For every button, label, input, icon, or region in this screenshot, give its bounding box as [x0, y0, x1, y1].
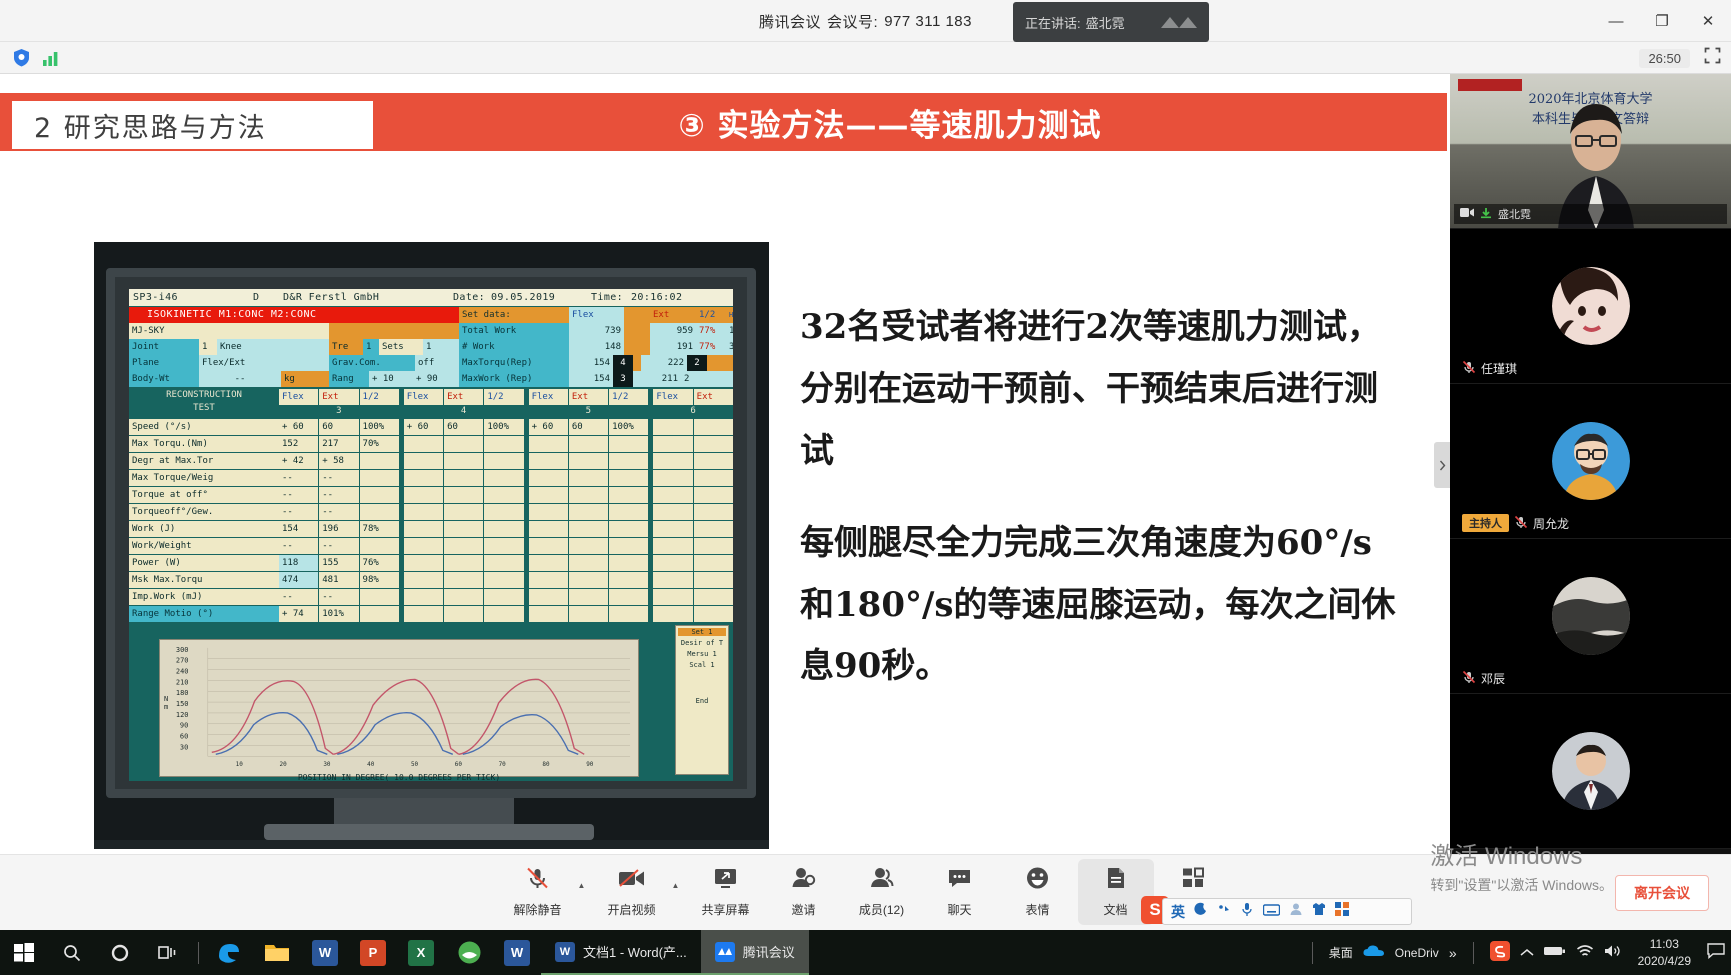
param-row: Range Motio (°) + 74 101% [129, 606, 733, 622]
svg-text:150: 150 [176, 700, 189, 708]
param-0-label: Speed (°/s) [129, 419, 279, 435]
field-0-label: Joint [129, 339, 199, 355]
participant-tile[interactable]: 邓辰 [1450, 539, 1731, 694]
param-8-b: 155 [319, 555, 358, 571]
active-speaker-chip: 正在讲话: 盛北霓 [1013, 2, 1209, 42]
window-controls: — ❐ ✕ [1593, 0, 1731, 42]
status-bar-right: 26:50 [1639, 42, 1721, 74]
setrow-0-hi: 1698 [726, 323, 733, 339]
ctrl-0-label2: Sets [379, 339, 423, 355]
participant-name-row: 任瑾琪 [1456, 358, 1523, 378]
sogou-icon[interactable] [1490, 941, 1510, 964]
param-0-b3: 60 [569, 419, 608, 435]
param-row: Max Torque/Weig -- -- [129, 470, 733, 486]
param-row: Work (J) 154 196 78% [129, 521, 733, 537]
camera-icon[interactable] [1460, 207, 1474, 221]
setrow-3-rep2: 2 [681, 371, 733, 387]
time-label: Time: [591, 289, 631, 306]
rep-hdr-flex-3: Flex [279, 389, 318, 405]
ctrl-0-label: Tre [329, 339, 363, 355]
setrow-0-ext: 959 [650, 323, 696, 339]
taskbar-window-word-label: 文档1 - Word(产... [583, 942, 687, 961]
param-row: Power (W) 118 155 76% [129, 555, 733, 571]
download-icon[interactable] [1480, 207, 1492, 222]
participants-label: 成员(12) [859, 901, 904, 918]
rep-hdr-ext-4: Ext [444, 389, 483, 405]
battery-icon[interactable] [1544, 945, 1566, 960]
pinyin-icon[interactable] [1217, 902, 1231, 921]
graph-axis-label: POSITION IN DEGREE( 10.0 DEGREES PER TIC… [189, 773, 609, 781]
skin-icon[interactable] [1312, 902, 1326, 921]
avatar [1552, 577, 1630, 655]
param-9-label: Msk Max.Torqu [129, 572, 279, 588]
windows-taskbar: W P X W W 文档1 - Word(产... 腾讯会议 [0, 930, 1731, 975]
participant-name: 周允龙 [1533, 515, 1569, 532]
col-flex: Flex [569, 307, 624, 323]
param-8-a: 118 [279, 555, 318, 571]
rep-hdr-ext-6: Ext [694, 389, 733, 405]
test-title: RECONSTRUCTION TEST [129, 389, 279, 417]
tray-separator-2 [1473, 942, 1474, 964]
close-button[interactable]: ✕ [1685, 0, 1731, 42]
test-title-line1: RECONSTRUCTION [166, 390, 242, 400]
excel-icon[interactable]: X [397, 930, 445, 975]
document-icon [1103, 866, 1128, 896]
param-7-b: -- [319, 538, 358, 554]
taskbar-window-meeting[interactable]: 腾讯会议 [701, 930, 809, 975]
rep-hdr-flex-6: Flex [653, 389, 692, 405]
ie-icon[interactable] [445, 930, 493, 975]
slide-body-text: 32名受试者将进行2次等速肌力测试，分别在运动干预前、干预结束后进行测试 每侧腿… [800, 297, 1400, 698]
tray-desktop-label[interactable]: 桌面 [1329, 944, 1353, 961]
side-panel-4: End [678, 697, 726, 705]
invite-icon [791, 866, 816, 896]
parameter-table: Speed (°/s) + 60 60 100% + 60 60 100% + … [129, 419, 733, 622]
param-10-a: -- [279, 589, 318, 605]
camera-off-icon [618, 866, 645, 896]
presentation-slide: 2 研究思路与方法 ③ 实验方法——等速肌力测试 SP3-i46 D D&R F… [0, 79, 1447, 849]
ctrl-0-value2: 1 [423, 339, 459, 355]
param-2-label: Degr at Max.Tor [129, 453, 279, 469]
setrow-1-hi: 340 [726, 339, 733, 355]
field-1-v1: Flex/Ext [199, 355, 329, 371]
ime-language-indicator[interactable]: 英 [1171, 902, 1185, 922]
param-0-c2: 100% [484, 419, 523, 435]
param-3-b: -- [319, 470, 358, 486]
field-2-v1: -- [199, 371, 281, 387]
param-0-a3: + 60 [529, 419, 568, 435]
col-ext: Ext [650, 307, 696, 323]
minimize-button[interactable]: — [1593, 0, 1639, 42]
svg-text:240: 240 [176, 668, 189, 676]
svg-text:70: 70 [499, 761, 507, 768]
moon-icon[interactable] [1194, 902, 1208, 921]
task-view-icon[interactable] [144, 930, 192, 975]
volume-icon[interactable] [1604, 944, 1622, 961]
param-6-label: Work (J) [129, 521, 279, 537]
time-value: 20:16:02 [631, 289, 729, 306]
svg-text:90: 90 [586, 761, 594, 768]
svg-text:10: 10 [236, 761, 244, 768]
powerpoint-icon[interactable]: P [349, 930, 397, 975]
param-6-a: 154 [279, 521, 318, 537]
setrow-2-flex: 154 [569, 355, 613, 371]
file-explorer-icon[interactable] [253, 930, 301, 975]
participants-icon [869, 866, 894, 896]
param-0-a: + 60 [279, 419, 318, 435]
speaker-tile-name: 盛北霓 [1498, 206, 1531, 222]
col-ratio: 1/2 [696, 307, 726, 323]
taskbar-window-word[interactable]: W 文档1 - Word(产... [541, 930, 701, 975]
param-8-label: Power (W) [129, 555, 279, 571]
mic-muted-icon [525, 866, 550, 896]
rep-hdr-flex-4: Flex [404, 389, 443, 405]
side-panel-0: Set 1 [678, 628, 726, 636]
rep-number-3: 3 [279, 405, 399, 418]
slide-paragraph-1: 32名受试者将进行2次等速肌力测试，分别在运动干预前、干预结束后进行测试 [800, 297, 1400, 483]
word-icon: W [555, 942, 575, 962]
svg-text:40: 40 [367, 761, 375, 768]
ctrl-2-value: + 10 [369, 371, 413, 387]
tray-more-label[interactable]: » [1449, 945, 1457, 961]
rep-hdr-flex-5: Flex [529, 389, 568, 405]
crt-monitor: SP3-i46 D D&R Ferstl GmbH Date: 09.05.20… [106, 268, 756, 798]
action-center-icon[interactable] [1707, 943, 1725, 962]
setrow-3-flex: 154 [569, 371, 613, 387]
slide-title: ③ 实验方法——等速肌力测试 [380, 93, 1400, 151]
rep-number-4: 4 [404, 405, 524, 418]
svg-text:m: m [164, 703, 168, 711]
fullscreen-icon[interactable] [1704, 47, 1721, 69]
rep-hdr-ratio-3: 1/2 [360, 389, 399, 405]
side-panel-2: Mersu 1 [678, 650, 726, 658]
invite-button[interactable]: 邀请 [766, 859, 842, 925]
edge-icon[interactable] [205, 930, 253, 975]
setrow-2-ext: 222 [641, 355, 687, 371]
avatar [1552, 422, 1630, 500]
participant-name-row: 主持人 周允龙 [1456, 513, 1575, 533]
setrow-1-ext: 191 [650, 339, 696, 355]
word-icon[interactable]: W [301, 930, 349, 975]
param-3-a: -- [279, 470, 318, 486]
param-row: Work/Weight -- -- [129, 538, 733, 554]
param-4-label: Torque at off° [129, 487, 279, 503]
setrow-1-flex: 148 [569, 339, 624, 355]
keyboard-icon[interactable] [1263, 903, 1280, 921]
svg-text:30: 30 [180, 743, 188, 751]
avatar [1552, 267, 1630, 345]
svg-text:80: 80 [542, 761, 550, 768]
host-badge: 主持人 [1462, 514, 1509, 532]
wifi-icon[interactable] [1576, 944, 1594, 961]
unmute-button[interactable]: 解除静音 [500, 859, 576, 925]
microphone-icon[interactable] [1240, 902, 1254, 922]
device-id: SP3-i46 [133, 289, 253, 306]
date-label: Date: [453, 289, 491, 306]
param-10-b: -- [319, 589, 358, 605]
report-header-row: SP3-i46 D D&R Ferstl GmbH Date: 09.05.20… [129, 289, 733, 306]
svg-text:120: 120 [176, 711, 189, 719]
tencent-meeting-window: 腾讯会议 会议号: 977 311 183 正在讲话: 盛北霓 — ❐ ✕ [0, 0, 1731, 975]
ctrl-2-value2: + 90 [413, 371, 459, 387]
rep-hdr-ext-5: Ext [569, 389, 608, 405]
param-3-label: Max Torque/Weig [129, 470, 279, 486]
param-11-label: Range Motio (°) [129, 606, 279, 622]
word-doc-icon[interactable]: W [493, 930, 541, 975]
slide-section-tag: 2 研究思路与方法 [10, 99, 375, 151]
meeting-timer: 26:50 [1639, 49, 1690, 68]
participants-button[interactable]: 成员(12) [844, 859, 920, 925]
participant-tile[interactable] [1450, 694, 1731, 849]
mic-muted-icon [1462, 360, 1476, 377]
title-bar: 腾讯会议 会议号: 977 311 183 正在讲话: 盛北霓 — ❐ ✕ [0, 0, 1731, 42]
svg-text:270: 270 [176, 657, 189, 665]
meeting-toolbar: 解除静音 ▲ 开启视频 ▲ [0, 854, 1731, 930]
param-5-label: Torqueoff°/Gew. [129, 504, 279, 520]
participant-name-row [1456, 823, 1468, 843]
shared-screen-stage: 2 研究思路与方法 ③ 实验方法——等速肌力测试 SP3-i46 D D&R F… [0, 74, 1450, 854]
setrow-2-name: MaxTorqu(Rep) [459, 355, 569, 371]
participant-name: 任瑾琪 [1481, 360, 1517, 377]
screen-share-icon [713, 866, 738, 896]
field-2-label: Body-Wt [129, 371, 199, 387]
param-6-b: 196 [319, 521, 358, 537]
param-2-a: + 42 [279, 453, 318, 469]
search-icon[interactable] [48, 930, 96, 975]
param-1-a: 152 [279, 436, 318, 452]
param-0-a2: + 60 [404, 419, 443, 435]
sogou-ime-bar[interactable]: 英 [1162, 898, 1412, 925]
param-9-a: 474 [279, 572, 318, 588]
tencent-logo-icon [1157, 12, 1201, 34]
param-4-a: -- [279, 487, 318, 503]
mic-options-caret[interactable]: ▲ [578, 859, 592, 925]
col-hi: Hi/Low [726, 307, 733, 323]
svg-text:60: 60 [455, 761, 463, 768]
chat-button[interactable]: 聊天 [922, 859, 998, 925]
start-video-label: 开启视频 [607, 901, 655, 918]
setrow-2-rep2: 2 [687, 355, 707, 371]
rep-hdr-ratio-5: 1/2 [609, 389, 648, 405]
param-5-a: -- [279, 504, 318, 520]
param-7-label: Work/Weight [129, 538, 279, 554]
torque-curve-graph: 300 270 240 210 180 150 120 90 60 30 N [159, 639, 639, 777]
speaker-video-tile[interactable]: 2020年北京体育大学 本科生毕业论文答辩 [1450, 74, 1731, 229]
param-5-b: -- [319, 504, 358, 520]
setrow-2-rep1: 4 [613, 355, 633, 371]
setrow-0-ratio: 77% [696, 323, 726, 339]
svg-text:60: 60 [180, 733, 188, 741]
mic-muted-icon [1514, 515, 1528, 532]
param-0-b2: 60 [444, 419, 483, 435]
setrow-3-name: MaxWork (Rep) [459, 371, 569, 387]
meeting-number-label: 会议号: [827, 11, 878, 32]
participant-name: 邓辰 [1481, 670, 1505, 687]
setrow-0-flex: 739 [569, 323, 624, 339]
rep-number-6: 6 [653, 405, 733, 418]
setrow-1-name: # Work [459, 339, 569, 355]
param-row: Max Torqu.(Nm) 152 217 70% [129, 436, 733, 452]
onedrive-icon[interactable] [1363, 944, 1385, 961]
rep-number-row: 3 4 5 6 [279, 405, 733, 418]
rep-hdr-ratio-4: 1/2 [484, 389, 523, 405]
invite-label: 邀请 [791, 901, 815, 918]
settings-grid-icon [1181, 866, 1206, 896]
param-row: Torque at off° -- -- [129, 487, 733, 503]
chat-label: 聊天 [947, 901, 971, 918]
ctrl-1-label: Grav.Com. [329, 355, 415, 371]
share-screen-label: 共享屏幕 [701, 901, 749, 918]
vendor-name: D&R Ferstl GmbH [283, 289, 453, 306]
param-9-b: 481 [319, 572, 358, 588]
tencent-meeting-icon [715, 942, 735, 962]
date-value: 09.05.2019 [491, 289, 591, 306]
document-label: 文档 [1103, 901, 1127, 918]
param-0-b: 60 [319, 419, 358, 435]
svg-text:N: N [164, 695, 168, 703]
param-2-b: + 58 [319, 453, 358, 469]
param-7-a: -- [279, 538, 318, 554]
param-row: Torqueoff°/Gew. -- -- [129, 504, 733, 520]
svg-text:50: 50 [411, 761, 419, 768]
field-2-v2: kg [281, 371, 329, 387]
ctrl-2-label: Rang [329, 371, 369, 387]
taskbar-window-meeting-label: 腾讯会议 [743, 942, 795, 961]
param-11-b: 101% [319, 606, 358, 622]
rep-hdr-ext-3: Ext [319, 389, 358, 405]
start-video-button[interactable]: 开启视频 [594, 859, 670, 925]
chat-icon [947, 866, 972, 896]
signal-icon[interactable] [38, 46, 64, 70]
status-bar: 26:50 [0, 42, 1731, 74]
rep-header-row: Flex Ext 1/2 Flex Ext 1/2 Flex Ext 1/2 [279, 389, 733, 405]
taskbar-clock[interactable]: 11:03 2020/4/29 [1632, 936, 1697, 968]
meeting-info: 腾讯会议 会议号: 977 311 183 [0, 0, 1731, 42]
d-mark: D [253, 289, 283, 306]
set-data-label: Set data: [459, 307, 569, 323]
participant-tile[interactable]: 主持人 周允龙 [1450, 384, 1731, 539]
apps-icon[interactable] [1335, 902, 1350, 921]
tray-separator [1312, 942, 1313, 964]
param-8-c: 76% [360, 555, 399, 571]
chevron-up-icon[interactable] [1520, 946, 1534, 960]
cortana-icon[interactable] [96, 930, 144, 975]
unmute-label: 解除静音 [513, 901, 561, 918]
share-screen-button[interactable]: 共享屏幕 [688, 859, 764, 925]
param-row: Degr at Max.Tor + 42 + 58 [129, 453, 733, 469]
participant-rail: 2020年北京体育大学 本科生毕业论文答辩 [1450, 74, 1731, 854]
video-options-caret[interactable]: ▲ [672, 859, 686, 925]
setrow-3-ext: 211 [633, 371, 681, 387]
user-icon[interactable] [1289, 902, 1303, 921]
meeting-number: 977 311 183 [884, 13, 972, 30]
leave-meeting-button[interactable]: 离开会议 [1615, 875, 1709, 911]
clock-time: 11:03 [1650, 936, 1679, 952]
param-4-b: -- [319, 487, 358, 503]
shield-icon[interactable] [8, 46, 34, 70]
subject-name: MJ-SKY [129, 323, 329, 339]
ctrl-0-value: 1 [363, 339, 379, 355]
param-1-label: Max Torqu.(Nm) [129, 436, 279, 452]
toolbar-buttons: 解除静音 ▲ 开启视频 ▲ [500, 859, 1232, 927]
param-row: Msk Max.Torqu 474 481 98% [129, 572, 733, 588]
mic-muted-icon [1462, 670, 1476, 687]
clock-date: 2020/4/29 [1638, 953, 1691, 969]
setrow-1-ratio: 77% [696, 339, 726, 355]
svg-text:90: 90 [180, 722, 188, 730]
field-1-label: Plane [129, 355, 199, 371]
rep-number-5: 5 [528, 405, 648, 418]
param-row: Speed (°/s) + 60 60 100% + 60 60 100% + … [129, 419, 733, 435]
param-0-c: 100% [360, 419, 399, 435]
windows-start-icon[interactable] [0, 930, 48, 975]
svg-text:180: 180 [176, 689, 189, 697]
avatar [1552, 732, 1630, 810]
app-name: 腾讯会议 [759, 11, 821, 32]
svg-text:30: 30 [323, 761, 331, 768]
isokinetic-report-screen: SP3-i46 D D&R Ferstl GmbH Date: 09.05.20… [129, 289, 733, 781]
side-panel-3: Scal 1 [678, 661, 726, 669]
taskbar-separator [198, 942, 199, 964]
field-0-v1: 1 [199, 339, 217, 355]
param-1-c: 70% [360, 436, 399, 452]
side-panel-1: Desir of T [678, 639, 726, 647]
param-1-b: 217 [319, 436, 358, 452]
param-11-a: + 74 [279, 606, 318, 622]
ctrl-1-value: off [415, 355, 459, 371]
isokinetic-machine-photo: SP3-i46 D D&R Ferstl GmbH Date: 09.05.20… [94, 242, 769, 849]
setrow-3-rep1: 3 [613, 371, 633, 387]
param-6-c: 78% [360, 521, 399, 537]
svg-text:210: 210 [176, 678, 189, 686]
participant-tile[interactable]: 任瑾琪 [1450, 229, 1731, 384]
mode-banner: ISOKINETIC M1:CONC M2:CONC [129, 307, 459, 323]
emoji-icon [1025, 866, 1050, 896]
speaker-tile-strip: 盛北霓 [1454, 204, 1727, 224]
emoji-label: 表情 [1025, 901, 1049, 918]
participant-name-row: 邓辰 [1456, 668, 1511, 688]
active-speaker-name: 盛北霓 [1086, 13, 1125, 32]
svg-text:300: 300 [176, 646, 189, 654]
active-speaker-prefix: 正在讲话: [1025, 13, 1081, 32]
param-row: Imp.Work (mJ) -- -- [129, 589, 733, 605]
maximize-button[interactable]: ❐ [1639, 0, 1685, 42]
param-10-label: Imp.Work (mJ) [129, 589, 279, 605]
onedrive-label[interactable]: OneDriv [1395, 946, 1439, 960]
setrow-0-name: Total Work [459, 323, 569, 339]
svg-text:20: 20 [280, 761, 288, 768]
test-title-line2: TEST [193, 403, 215, 413]
collapse-rail-button[interactable] [1434, 442, 1450, 488]
param-9-c: 98% [360, 572, 399, 588]
param-0-c3: 100% [609, 419, 648, 435]
slide-paragraph-2: 每侧腿尽全力完成三次角速度为60°/s和180°/s的等速屈膝运动，每次之间休息… [800, 513, 1400, 699]
system-tray: 桌面 OneDriv » [1306, 930, 1731, 975]
field-0-v2: Knee [217, 339, 329, 355]
emoji-button[interactable]: 表情 [1000, 859, 1076, 925]
crt-side-panel: Set 1 Desir of T Mersu 1 Scal 1 End [675, 625, 729, 775]
